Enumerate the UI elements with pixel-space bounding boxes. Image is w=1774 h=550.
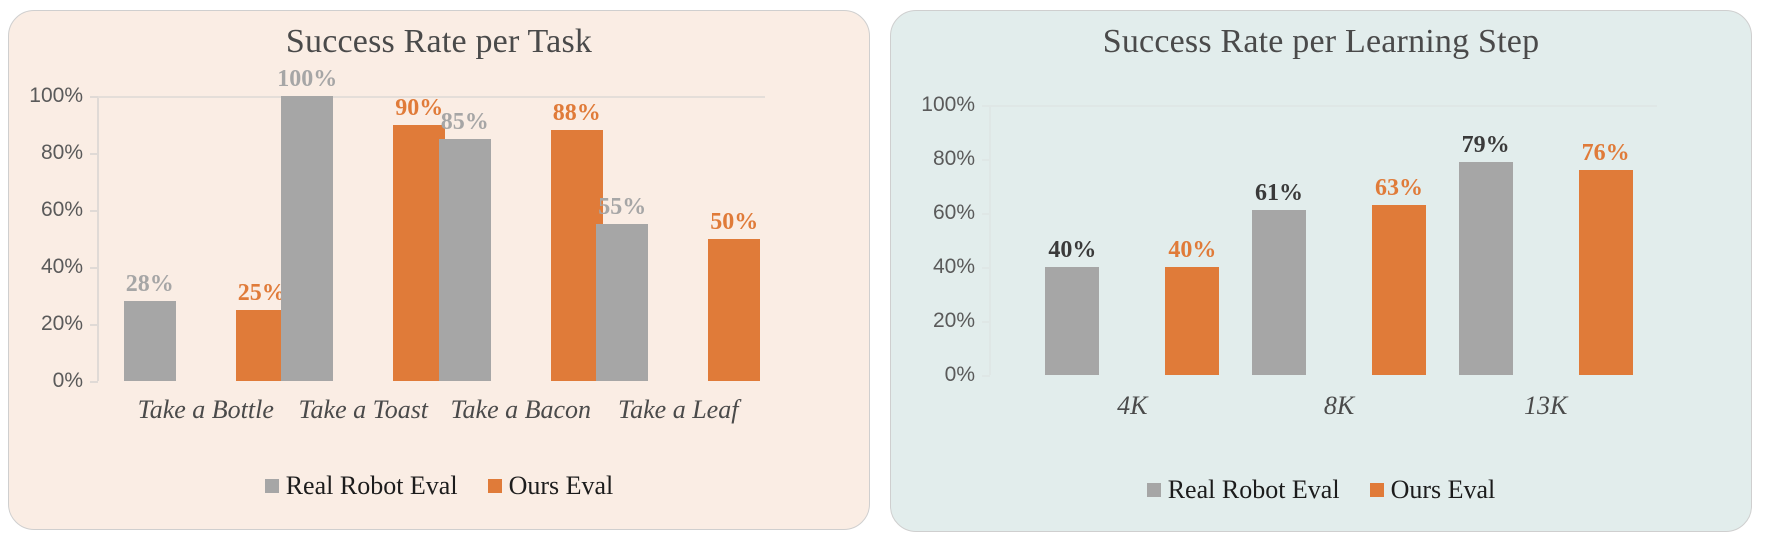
y-axis-tick: [90, 210, 98, 212]
y-axis-tick-label: 20%: [41, 312, 83, 336]
category-axis-label: Take a Bacon: [450, 395, 591, 425]
bar-value-label: 55%: [598, 195, 646, 219]
chart-legend: Real Robot Eval Ours Eval: [9, 471, 869, 501]
bar-value-label: 63%: [1375, 176, 1423, 200]
bar-value-label: 28%: [126, 272, 174, 296]
y-axis-tick: [90, 381, 98, 383]
bar-real-robot-eval: 28%: [124, 301, 176, 381]
y-axis-tick-label: 0%: [945, 363, 975, 387]
y-axis-tick: [982, 159, 990, 161]
chart-title: Success Rate per Learning Step: [891, 23, 1751, 61]
bar-value-label: 90%: [395, 96, 443, 120]
bar-real-robot-eval: 55%: [596, 224, 648, 381]
y-axis-tick: [982, 105, 990, 107]
legend-item-real-robot-eval[interactable]: Real Robot Eval: [1147, 475, 1340, 505]
bar-value-label: 40%: [1168, 238, 1216, 262]
bar-value-label: 50%: [710, 210, 758, 234]
dual-bar-chart-figure: Success Rate per Task 0%20%40%60%80%100%…: [0, 0, 1774, 550]
y-axis-tick-label: 100%: [29, 84, 83, 108]
y-axis-tick-label: 60%: [41, 198, 83, 222]
chart-panel-success-rate-per-learning-step: Success Rate per Learning Step 0%20%40%6…: [890, 10, 1752, 532]
y-axis-line: [97, 96, 99, 381]
y-axis-tick: [982, 213, 990, 215]
chart-title: Success Rate per Task: [9, 23, 869, 61]
legend-item-label: Ours Eval: [509, 471, 614, 501]
y-axis-tick: [982, 375, 990, 377]
y-axis-tick: [90, 153, 98, 155]
bar-value-label: 88%: [553, 101, 601, 125]
y-axis-tick: [90, 96, 98, 98]
category-axis-label: 8K: [1324, 391, 1354, 421]
y-axis-tick-label: 60%: [933, 201, 975, 225]
y-axis-tick: [90, 324, 98, 326]
bar-value-label: 61%: [1255, 181, 1303, 205]
category-axis-label: Take a Leaf: [618, 395, 738, 425]
legend-item-real-robot-eval[interactable]: Real Robot Eval: [265, 471, 458, 501]
bar-value-label: 40%: [1048, 238, 1096, 262]
chart-legend: Real Robot Eval Ours Eval: [891, 475, 1751, 505]
category-axis-label: Take a Bottle: [138, 395, 274, 425]
bar-ours-eval: 40%: [1165, 267, 1219, 375]
legend-swatch-icon: [488, 479, 502, 493]
y-axis-tick: [982, 321, 990, 323]
bar-ours-eval: 25%: [236, 310, 288, 381]
y-axis-tick-label: 0%: [53, 369, 83, 393]
bar-real-robot-eval: 79%: [1459, 162, 1513, 375]
chart-panel-success-rate-per-task: Success Rate per Task 0%20%40%60%80%100%…: [8, 10, 870, 530]
y-axis-tick-label: 80%: [933, 147, 975, 171]
bar-value-label: 100%: [277, 67, 337, 91]
legend-item-label: Ours Eval: [1391, 475, 1496, 505]
plot-area: 0%20%40%60%80%100% 28%25%100%90%85%88%55…: [97, 96, 757, 381]
x-axis-baseline: [989, 105, 1657, 107]
bar-value-label: 79%: [1462, 133, 1510, 157]
y-axis-tick-label: 20%: [933, 309, 975, 333]
plot-area: 0%20%40%60%80%100% 40%40%61%63%79%76% 4K…: [989, 105, 1649, 375]
legend-item-label: Real Robot Eval: [1168, 475, 1340, 505]
bar-real-robot-eval: 40%: [1045, 267, 1099, 375]
bar-real-robot-eval: 61%: [1252, 210, 1306, 375]
legend-item-label: Real Robot Eval: [286, 471, 458, 501]
legend-swatch-icon: [1147, 483, 1161, 497]
legend-swatch-icon: [265, 479, 279, 493]
y-axis-tick: [90, 267, 98, 269]
y-axis-line: [989, 105, 991, 375]
category-axis-label: Take a Toast: [298, 395, 428, 425]
bar-ours-eval: 63%: [1372, 205, 1426, 375]
legend-item-ours-eval[interactable]: Ours Eval: [488, 471, 614, 501]
bar-ours-eval: 76%: [1579, 170, 1633, 375]
legend-swatch-icon: [1370, 483, 1384, 497]
bar-ours-eval: 90%: [393, 125, 445, 382]
bar-ours-eval: 88%: [551, 130, 603, 381]
y-axis-tick-label: 80%: [41, 141, 83, 165]
bar-ours-eval: 50%: [708, 239, 760, 382]
bar-value-label: 85%: [441, 110, 489, 134]
category-axis-label: 4K: [1117, 391, 1147, 421]
y-axis-tick-label: 100%: [921, 93, 975, 117]
legend-item-ours-eval[interactable]: Ours Eval: [1370, 475, 1496, 505]
y-axis-tick-label: 40%: [933, 255, 975, 279]
bar-value-label: 76%: [1582, 141, 1630, 165]
bar-real-robot-eval: 100%: [281, 96, 333, 381]
bar-value-label: 25%: [238, 281, 286, 305]
bar-real-robot-eval: 85%: [439, 139, 491, 381]
y-axis-tick-label: 40%: [41, 255, 83, 279]
y-axis-tick: [982, 267, 990, 269]
category-axis-label: 13K: [1524, 391, 1567, 421]
